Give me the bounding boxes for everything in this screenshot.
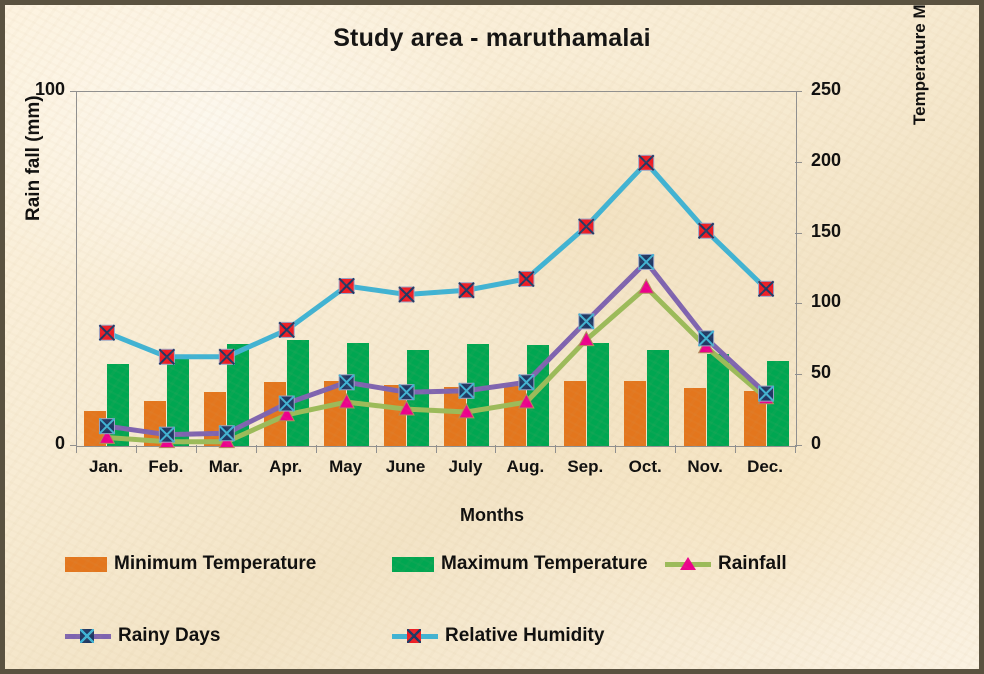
marker-relative-humidity-feb <box>159 349 174 364</box>
x-tick-mar: Mar. <box>196 457 256 477</box>
marker-relative-humidity-nov <box>699 223 714 238</box>
legend-label: Relative Humidity <box>445 625 604 647</box>
marker-relative-humidity-aug <box>519 271 534 286</box>
legend-item-maximum-temperature[interactable]: Maximum Temperature <box>392 553 648 575</box>
marker-rainfall-oct <box>639 279 654 293</box>
x-tick-july: July <box>436 457 496 477</box>
legend-label: Minimum Temperature <box>114 553 316 575</box>
legend-swatch-line <box>665 555 711 573</box>
x-tick-dec: Dec. <box>735 457 795 477</box>
marker-rainy-days-jan <box>99 419 114 434</box>
x-tick-sep: Sep. <box>555 457 615 477</box>
x-tick-june: June <box>376 457 436 477</box>
legend-label: Rainy Days <box>118 625 220 647</box>
x-tick-may: May <box>316 457 376 477</box>
line-series-layer <box>77 92 796 446</box>
legend-item-minimum-temperature[interactable]: Minimum Temperature <box>65 553 316 575</box>
x-tick-aug: Aug. <box>495 457 555 477</box>
legend-swatch-bar <box>65 557 107 572</box>
x-axis-title: Months <box>5 505 979 526</box>
y-right-tick-250: 250 <box>811 79 871 100</box>
marker-rainy-days-july <box>459 383 474 398</box>
marker-relative-humidity-june <box>399 287 414 302</box>
legend-item-relative-humidity[interactable]: Relative Humidity <box>392 625 604 647</box>
marker-relative-humidity-apr <box>279 322 294 337</box>
x-tick-nov: Nov. <box>675 457 735 477</box>
chart-canvas: Study area - maruthamalai Rain fall (mm)… <box>0 0 984 674</box>
plot-inner <box>77 92 796 446</box>
marker-rainy-days-apr <box>279 396 294 411</box>
y-right-tick-100: 100 <box>811 291 871 312</box>
legend-item-rainy-days[interactable]: Rainy Days <box>65 625 220 647</box>
x-tick-apr: Apr. <box>256 457 316 477</box>
y-right-tick-0: 0 <box>811 433 871 454</box>
plot-area <box>76 91 797 447</box>
x-tick-jan: Jan. <box>76 457 136 477</box>
chart-title: Study area - maruthamalai <box>5 24 979 53</box>
legend-marker-square-x-icon <box>80 629 94 643</box>
legend-swatch-line <box>65 627 111 645</box>
line-relative-humidity <box>107 163 766 357</box>
marker-rainy-days-aug <box>519 375 534 390</box>
marker-rainy-days-dec <box>759 386 774 401</box>
legend-swatch-line <box>392 627 438 645</box>
legend-swatch-bar <box>392 557 434 572</box>
y-left-tick-0: 0 <box>5 433 65 454</box>
y-right-tick-200: 200 <box>811 150 871 171</box>
x-tick-oct: Oct. <box>615 457 675 477</box>
y-left-tick-100: 100 <box>5 79 65 100</box>
legend-label: Rainfall <box>718 553 787 575</box>
marker-rainy-days-june <box>399 385 414 400</box>
marker-relative-humidity-jan <box>99 325 114 340</box>
marker-rainy-days-sep <box>579 314 594 329</box>
legend-marker-triangle-icon <box>680 557 696 570</box>
x-tick-feb: Feb. <box>136 457 196 477</box>
marker-relative-humidity-oct <box>639 155 654 170</box>
y-axis-right-title: Temperature Maximum - Minimum ( ᵒC) <box>910 0 930 125</box>
marker-rainy-days-feb <box>159 427 174 442</box>
legend-item-rainfall[interactable]: Rainfall <box>665 553 787 575</box>
y-right-tick-150: 150 <box>811 221 871 242</box>
legend-marker-square-x-icon <box>407 629 421 643</box>
marker-relative-humidity-dec <box>759 281 774 296</box>
chart-legend: Minimum TemperatureMaximum TemperatureRa… <box>65 553 945 663</box>
line-rainfall <box>107 287 766 441</box>
legend-label: Maximum Temperature <box>441 553 648 575</box>
marker-rainy-days-mar <box>219 426 234 441</box>
marker-rainy-days-oct <box>639 254 654 269</box>
marker-rainy-days-may <box>339 375 354 390</box>
y-axis-left-title: Rain fall (mm) <box>23 21 45 221</box>
marker-rainy-days-nov <box>699 331 714 346</box>
marker-relative-humidity-mar <box>219 349 234 364</box>
marker-relative-humidity-july <box>459 283 474 298</box>
y-right-tick-50: 50 <box>811 362 871 383</box>
marker-relative-humidity-may <box>339 278 354 293</box>
marker-relative-humidity-sep <box>579 219 594 234</box>
